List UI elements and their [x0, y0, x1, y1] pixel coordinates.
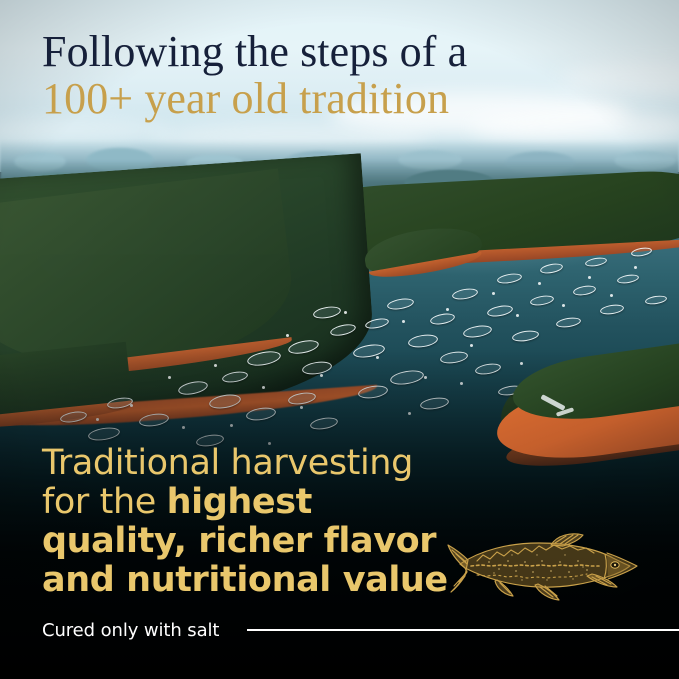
buoy-marker [230, 424, 233, 427]
tagline-text: Cured only with salt [42, 620, 219, 641]
fish-pen [555, 316, 581, 329]
fish-pen [246, 349, 282, 368]
fish-pen [364, 317, 389, 331]
fish-pen [529, 294, 554, 307]
body-copy-line-1: Traditional harvesting [42, 444, 512, 483]
fish-pen [407, 333, 439, 350]
buoy-marker [538, 282, 541, 285]
headline-line-1: Following the steps of a [42, 28, 642, 75]
fish-pen [451, 287, 478, 301]
buoy-marker [424, 376, 427, 379]
fish-pen [439, 350, 468, 365]
buoy-marker [168, 376, 171, 379]
sturgeon-fish-icon [447, 524, 643, 606]
body-copy-line-4: and nutritional value [42, 561, 512, 600]
buoy-marker [446, 308, 449, 311]
body-copy-line-2-light: for the [42, 482, 167, 522]
headline-line-2: 100+ year old tradition [42, 75, 642, 122]
fish-pen [486, 304, 513, 319]
tagline-divider [247, 629, 679, 631]
fish-pen [329, 322, 357, 338]
fish-pen [386, 297, 414, 312]
buoy-marker [300, 406, 303, 409]
fish-pen [287, 391, 316, 407]
fish-pen [245, 406, 277, 423]
fish-pen [221, 370, 248, 384]
buoy-marker [130, 404, 133, 407]
fish-pen [474, 362, 501, 376]
fish-pen [301, 360, 333, 377]
fish-pen [287, 338, 320, 356]
fish-pen [59, 410, 87, 425]
fish-pen [309, 416, 338, 432]
body-copy-line-3: quality, richer flavor [42, 522, 512, 561]
body-copy-line-2-bold: highest [167, 482, 312, 522]
buoy-marker [520, 362, 523, 365]
buoy-marker [182, 426, 185, 429]
fish-pen [584, 256, 607, 268]
lifestyle-banner: Following the steps of a 100+ year old t… [0, 0, 679, 679]
buoy-marker [634, 266, 637, 269]
body-copy-line-2: for the highest [42, 483, 512, 522]
buoy-marker [402, 320, 405, 323]
fish-pen [177, 379, 209, 397]
fish-pen [419, 396, 449, 411]
fish-pen [312, 305, 341, 321]
fish-pen [496, 272, 522, 285]
tagline-row: Cured only with salt [42, 617, 679, 643]
body-copy: Traditional harvesting for the highest q… [42, 444, 512, 600]
buoy-marker [610, 294, 613, 297]
buoy-marker [470, 344, 473, 347]
fish-pen [352, 342, 386, 359]
buoy-marker [262, 386, 265, 389]
fish-pen [616, 273, 639, 285]
fish-pen [511, 329, 539, 343]
buoy-marker [96, 418, 99, 421]
buoy-marker [376, 356, 379, 359]
buoy-marker [408, 412, 411, 415]
fish-pen [630, 246, 652, 258]
fish-pen [138, 412, 170, 429]
buoy-marker [320, 374, 323, 377]
buoy-marker [516, 314, 519, 317]
buoy-marker [214, 364, 217, 367]
fish-pen [645, 294, 668, 305]
fish-pen [87, 426, 120, 443]
buoy-marker [588, 276, 591, 279]
fish-pen [208, 392, 242, 410]
fish-pen [389, 368, 425, 387]
fish-pen [106, 396, 133, 410]
buoy-marker [492, 292, 495, 295]
buoy-marker [286, 334, 289, 337]
fish-pen [357, 384, 389, 401]
fish-pen [462, 324, 492, 340]
buoy-marker [562, 304, 565, 307]
headline: Following the steps of a 100+ year old t… [42, 28, 642, 122]
fish-pen [572, 284, 596, 297]
buoy-marker [344, 311, 347, 314]
fish-pen [429, 312, 455, 327]
fish-pen [599, 303, 624, 316]
buoy-marker [460, 382, 463, 385]
fish-pen [539, 262, 563, 275]
